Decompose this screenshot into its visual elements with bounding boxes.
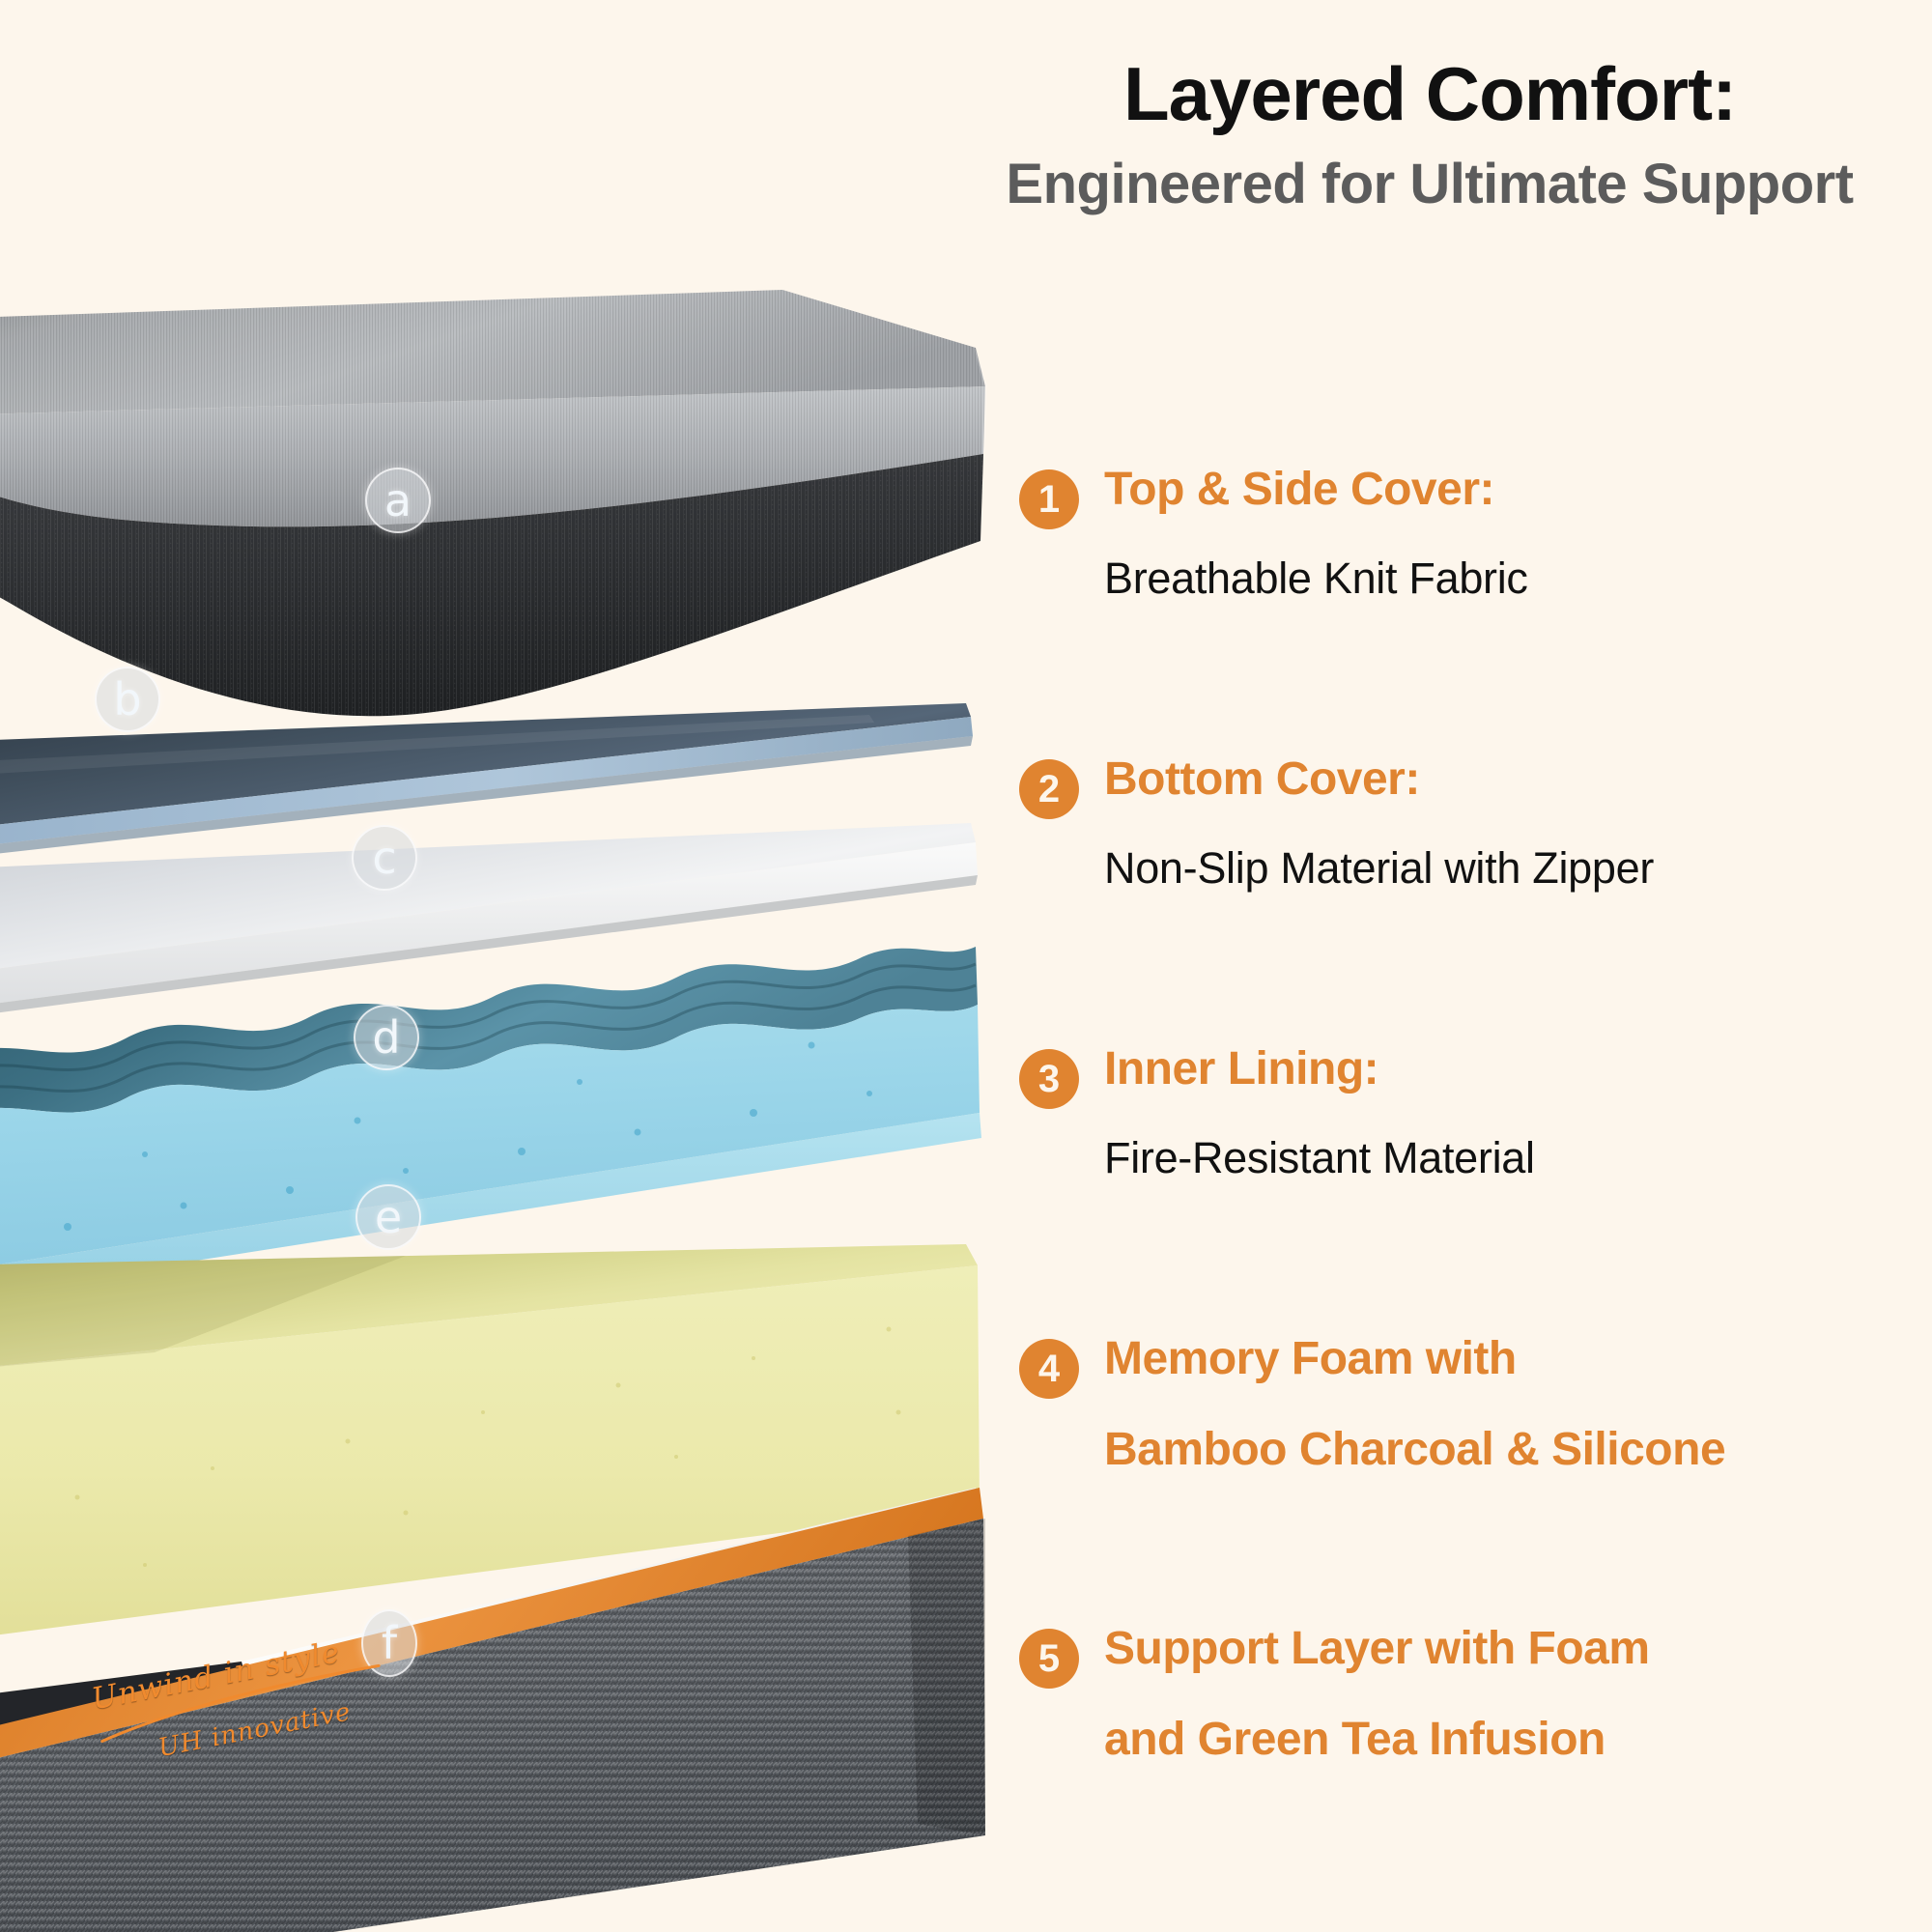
- page-title: Layered Comfort:: [966, 56, 1893, 131]
- feature-description-2: Non-Slip Material with Zipper: [1104, 844, 1908, 893]
- feature-number-badge-4: 4: [1019, 1339, 1079, 1399]
- feature-number-badge-3: 3: [1019, 1049, 1079, 1109]
- feature-heading-4-line2: Bamboo Charcoal & Silicone: [1104, 1424, 1908, 1476]
- feature-item-5[interactable]: 5 Support Layer with Foam and Green Tea …: [1019, 1623, 1908, 1766]
- feature-description-1: Breathable Knit Fabric: [1104, 554, 1908, 603]
- feature-description-3: Fire-Resistant Material: [1104, 1134, 1908, 1182]
- header: Layered Comfort: Engineered for Ultimate…: [966, 56, 1893, 213]
- feature-heading-5-line2: and Green Tea Infusion: [1104, 1714, 1908, 1766]
- feature-item-1[interactable]: 1 Top & Side Cover: Breathable Knit Fabr…: [1019, 464, 1908, 603]
- layer-a-shape: [0, 290, 987, 716]
- feature-heading-4: Memory Foam with: [1104, 1333, 1517, 1385]
- feature-item-4[interactable]: 4 Memory Foam with Bamboo Charcoal & Sil…: [1019, 1333, 1908, 1476]
- layer-badge-b[interactable]: b: [95, 667, 160, 732]
- feature-number-badge-2: 2: [1019, 759, 1079, 819]
- page-subtitle: Engineered for Ultimate Support: [966, 156, 1893, 213]
- feature-item-2[interactable]: 2 Bottom Cover: Non-Slip Material with Z…: [1019, 753, 1908, 893]
- mattress-exploded-illustration: a b c d e f Unwind in style UH innovativ…: [0, 0, 995, 1932]
- layer-badge-e[interactable]: e: [355, 1184, 421, 1250]
- feature-number-badge-1: 1: [1019, 469, 1079, 529]
- layer-badge-d[interactable]: d: [354, 1005, 419, 1070]
- feature-item-3[interactable]: 3 Inner Lining: Fire-Resistant Material: [1019, 1043, 1908, 1182]
- infographic-page: a b c d e f Unwind in style UH innovativ…: [0, 0, 1932, 1932]
- feature-heading-2: Bottom Cover:: [1104, 753, 1420, 806]
- layer-badge-c[interactable]: c: [352, 825, 417, 891]
- feature-heading-3: Inner Lining:: [1104, 1043, 1378, 1095]
- feature-heading-5: Support Layer with Foam: [1104, 1623, 1650, 1675]
- layer-badge-f[interactable]: f: [361, 1609, 417, 1677]
- layer-badge-a[interactable]: a: [365, 468, 431, 533]
- feature-number-badge-5: 5: [1019, 1629, 1079, 1689]
- feature-heading-1: Top & Side Cover:: [1104, 464, 1494, 516]
